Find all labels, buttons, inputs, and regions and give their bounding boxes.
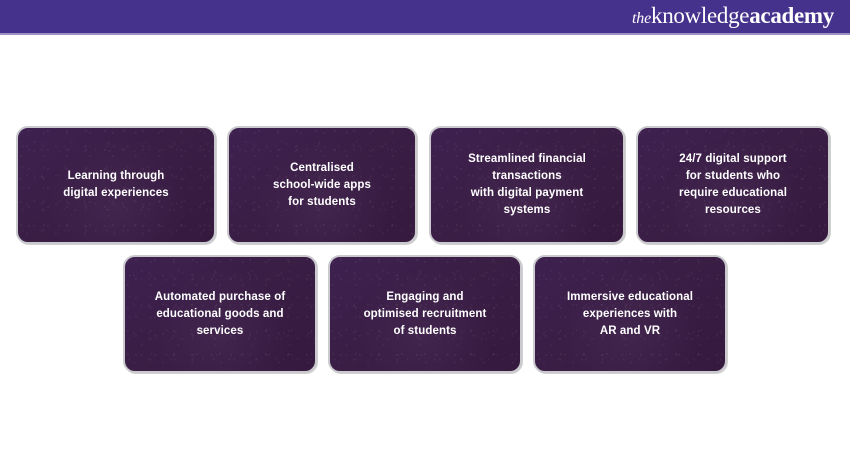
card-label: Automated purchase of educational goods … [147, 289, 294, 340]
header-bar: theknowledgeacademy [0, 0, 850, 33]
logo-academy-text: academy [749, 4, 834, 27]
card-row2-item1: Automated purchase of educational goods … [123, 255, 317, 373]
card-row2-item2: Engaging and optimised recruitment of st… [328, 255, 522, 373]
card-label: Engaging and optimised recruitment of st… [356, 289, 495, 340]
card-label: Streamlined financial transactions with … [460, 151, 594, 219]
card-row1-item2: Centralised school-wide apps for student… [227, 126, 417, 244]
card-row1-item1: Learning through digital experiences [16, 126, 216, 244]
card-row2-item3: Immersive educational experiences with A… [533, 255, 727, 373]
card-row1-item3: Streamlined financial transactions with … [429, 126, 625, 244]
card-label: Immersive educational experiences with A… [559, 289, 701, 340]
brand-logo: theknowledgeacademy [632, 4, 834, 30]
card-label: 24/7 digital support for students who re… [671, 151, 795, 219]
logo-knowledge-text: knowledge [651, 4, 749, 27]
card-label: Learning through digital experiences [55, 168, 176, 202]
card-grid-diagram: Learning through digital experiences Cen… [0, 35, 850, 450]
card-row1-item4: 24/7 digital support for students who re… [636, 126, 830, 244]
card-label: Centralised school-wide apps for student… [265, 160, 379, 211]
logo-the-text: the [632, 7, 651, 30]
